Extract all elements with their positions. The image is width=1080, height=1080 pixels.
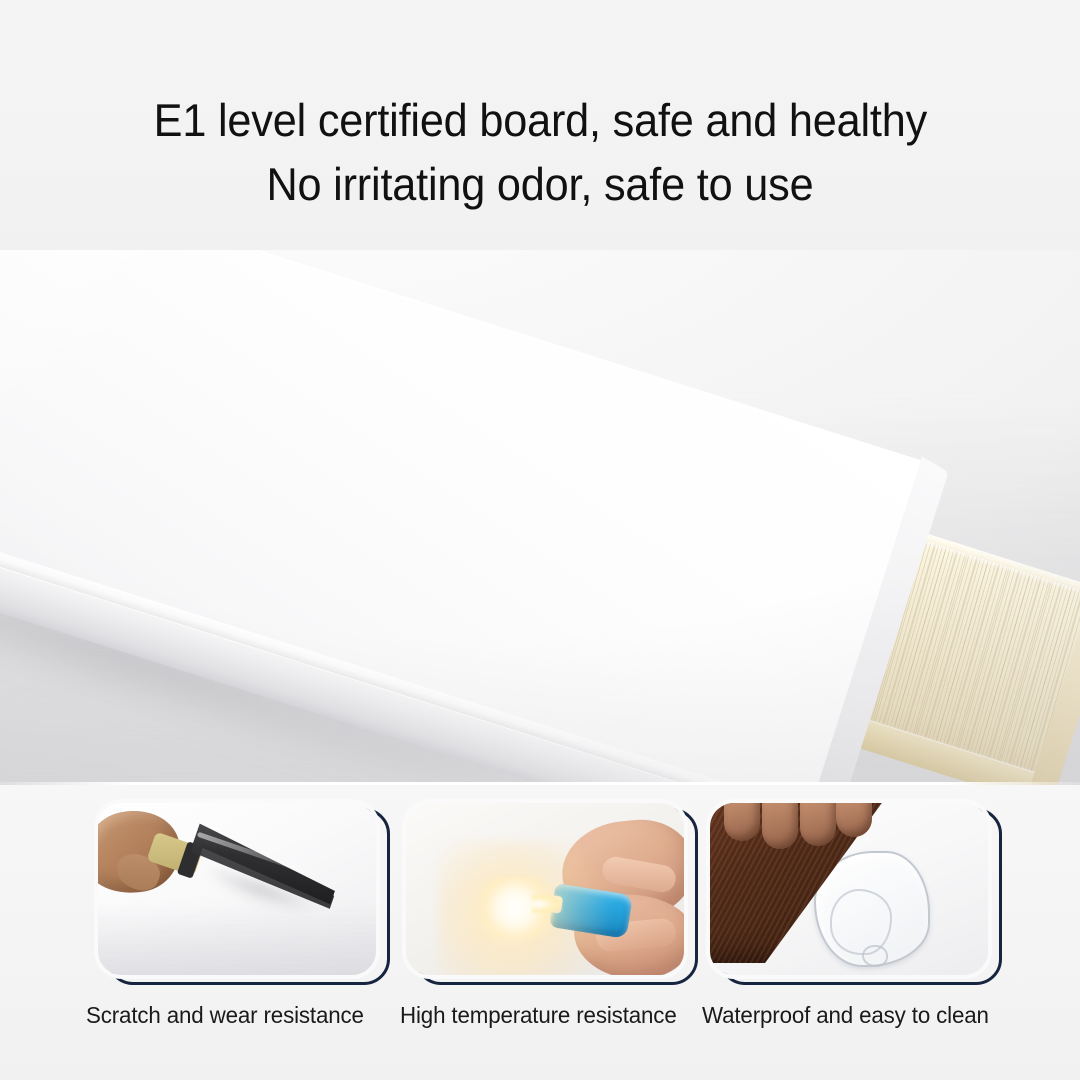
caption-waterproof: Waterproof and easy to clean [702,1002,989,1029]
caption-temperature: High temperature resistance [400,1002,677,1029]
finger-icon [724,803,760,841]
finger-icon [836,803,872,837]
finger-icon [800,803,836,846]
headline-block: E1 level certified board, safe and healt… [0,0,1080,250]
water-inner-icon [830,889,892,955]
headline-line-1: E1 level certified board, safe and healt… [153,92,926,150]
knife-scratch-test-photo [98,803,376,975]
feature-panel-temperature[interactable] [406,803,694,981]
feature-panels-row [0,785,1080,990]
feature-panel-waterproof[interactable] [710,803,998,981]
lighter-flame-test-photo [406,803,684,975]
water-droplet-icon [862,945,888,967]
feature-captions: Scratch and wear resistance High tempera… [0,990,1080,1080]
flame-tip-icon [532,895,562,913]
finger-icon [762,803,798,849]
feature-panel-scratch[interactable] [98,803,386,981]
hand-icon [716,803,876,849]
feature-strip: Scratch and wear resistance High tempera… [0,785,1080,1080]
cloth-wiping-water-photo [710,803,988,975]
product-marketing-image: E1 level certified board, safe and healt… [0,0,1080,1080]
caption-scratch: Scratch and wear resistance [86,1002,364,1029]
headline-line-2: No irritating odor, safe to use [267,156,814,214]
